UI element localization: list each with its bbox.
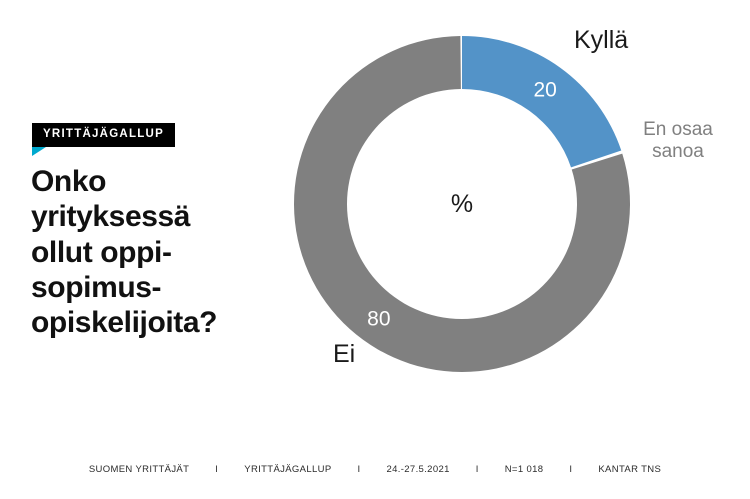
donut-slice-value: 20 — [533, 79, 556, 102]
left-text-panel: YRITTÄJÄGALLUP Onko yrityksessä ollut op… — [0, 0, 300, 430]
footer: SUOMEN YRITTÄJÄT I YRITTÄJÄGALLUP I 24.-… — [0, 439, 750, 499]
headline-line-3: ollut oppi- — [31, 235, 281, 270]
slice-label-en-osaa-sanoa: En osaa sanoa — [628, 119, 728, 163]
donut-slice-value: 80 — [367, 307, 390, 330]
brand-badge-tail-icon — [32, 147, 46, 156]
donut-slice[interactable] — [462, 36, 621, 167]
brand-badge: YRITTÄJÄGALLUP — [32, 123, 175, 147]
footer-item-survey: YRITTÄJÄGALLUP — [218, 464, 357, 475]
headline-line-2: yrityksessä — [31, 199, 281, 234]
footer-item-date: 24.-27.5.2021 — [361, 464, 476, 475]
footer-item-organisation: SUOMEN YRITTÄJÄT — [63, 464, 215, 475]
headline-line-1: Onko — [31, 164, 281, 199]
donut-chart: 2080 % — [294, 36, 630, 372]
brand-badge-container: YRITTÄJÄGALLUP — [32, 123, 175, 147]
footer-item-sample-size: N=1 018 — [479, 464, 570, 475]
headline-line-4: sopimus- — [31, 270, 281, 305]
page-title: Onko yrityksessä ollut oppi- sopimus- op… — [31, 164, 281, 340]
headline-line-5: opiskelijoita? — [31, 305, 281, 340]
donut-chart-svg: 2080 — [294, 36, 630, 372]
footer-item-research-company: KANTAR TNS — [572, 464, 687, 475]
donut-value-label-group: 2080 — [367, 79, 557, 331]
slice-label-kylla: Kyllä — [574, 26, 628, 55]
slice-label-ei: Ei — [333, 340, 355, 369]
footer-source-line: SUOMEN YRITTÄJÄT I YRITTÄJÄGALLUP I 24.-… — [63, 464, 687, 475]
donut-slice-group — [294, 36, 630, 372]
